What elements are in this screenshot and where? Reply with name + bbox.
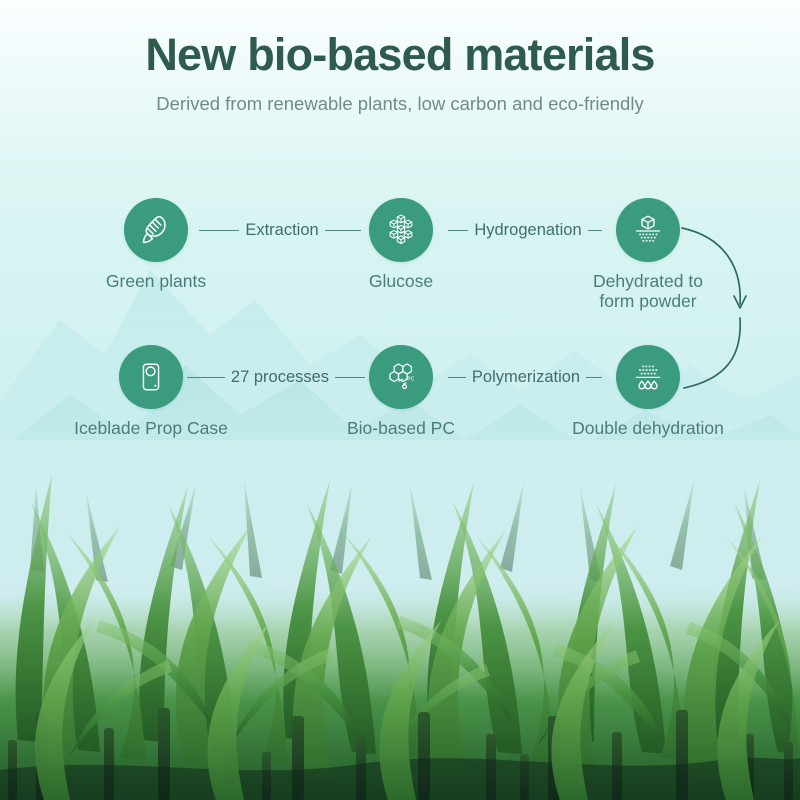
cube-sieve-icon bbox=[630, 212, 666, 248]
flow-node-label: Dehydrated to form powder bbox=[553, 271, 743, 311]
connector-label: Polymerization bbox=[472, 366, 580, 388]
flow-node-label: Double dehydration bbox=[553, 418, 743, 438]
connector-line-right bbox=[588, 230, 602, 231]
connector-line-left bbox=[187, 377, 225, 378]
corn-icon bbox=[138, 212, 174, 248]
flow-connector-hydrogenation: Hydrogenation bbox=[436, 219, 614, 241]
phone-case-icon bbox=[134, 360, 168, 394]
flow-node-dehydrated-powder[interactable]: Dehydrated to form powder bbox=[553, 198, 743, 311]
flow-node-icon-bubble bbox=[119, 345, 183, 409]
flow-node-icon-bubble bbox=[124, 198, 188, 262]
svg-text:PC: PC bbox=[407, 376, 414, 382]
flow-node-icon-bubble bbox=[369, 198, 433, 262]
flow-node-icon-bubble bbox=[616, 345, 680, 409]
connector-label: Extraction bbox=[245, 219, 318, 241]
connector-line-left bbox=[448, 230, 468, 231]
connector-line-left bbox=[199, 230, 239, 231]
connector-label: 27 processes bbox=[231, 366, 329, 388]
flow-node-label: Glucose bbox=[306, 271, 496, 291]
process-flow-diagram: Green plants Glucose bbox=[0, 0, 800, 470]
flow-node-icon-bubble bbox=[616, 198, 680, 262]
flow-node-label: Green plants bbox=[61, 271, 251, 291]
sugar-cubes-icon bbox=[384, 213, 418, 247]
polymer-molecule-icon: PC bbox=[383, 359, 419, 395]
flow-node-glucose[interactable]: Glucose bbox=[306, 198, 496, 291]
flow-node-green-plants[interactable]: Green plants bbox=[61, 198, 251, 291]
connector-line-left bbox=[448, 377, 466, 378]
flow-node-label: Bio-based PC bbox=[306, 418, 496, 438]
connector-line-right bbox=[335, 377, 365, 378]
flow-connector-extraction: Extraction bbox=[190, 219, 370, 241]
flow-connector-27-processes: 27 processes bbox=[186, 366, 366, 388]
connector-line-right bbox=[325, 230, 361, 231]
flow-node-iceblade-prop-case[interactable]: Iceblade Prop Case bbox=[56, 345, 246, 438]
flow-node-double-dehydration[interactable]: Double dehydration bbox=[553, 345, 743, 438]
sugarcane-field-photo bbox=[0, 440, 800, 800]
flow-connector-polymerization: Polymerization bbox=[436, 366, 614, 388]
connector-label: Hydrogenation bbox=[474, 219, 581, 241]
flow-node-label: Iceblade Prop Case bbox=[56, 418, 246, 438]
infographic-poster: New bio-based materials Derived from ren… bbox=[0, 0, 800, 800]
flow-node-icon-bubble: PC bbox=[369, 345, 433, 409]
flow-node-bio-based-pc[interactable]: PC Bio-based PC bbox=[306, 345, 496, 438]
dehydration-droplets-icon bbox=[630, 359, 666, 395]
connector-line-right bbox=[586, 377, 602, 378]
